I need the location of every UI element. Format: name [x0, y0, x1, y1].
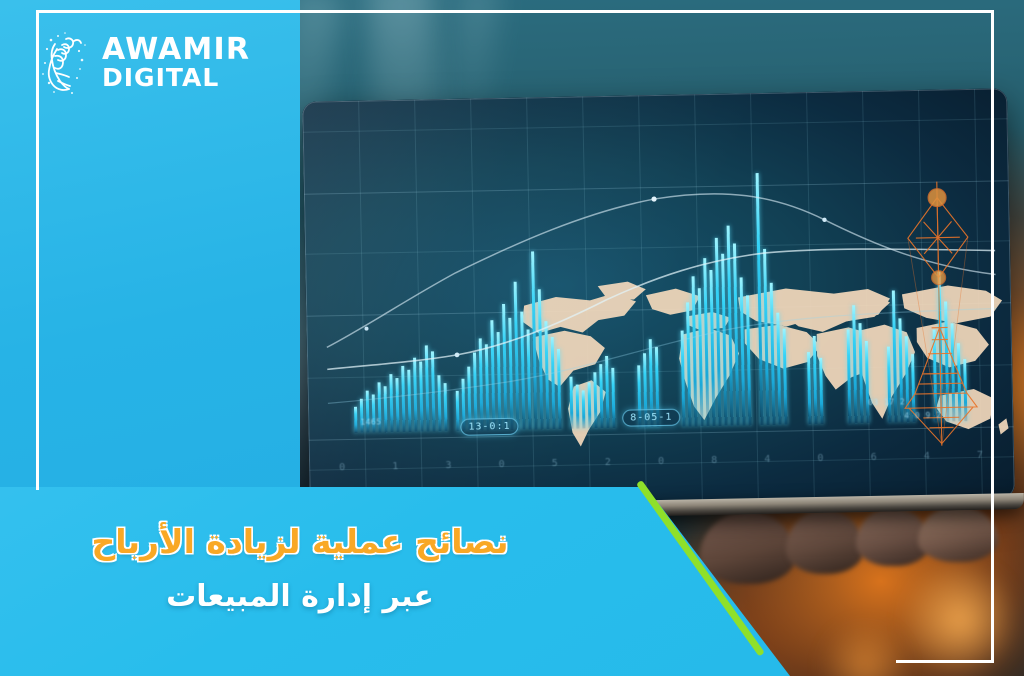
analytics-dashboard-screen[interactable]: 13-0:1 8-05-1 1465 03 17 2 4 0 9 2 0 1 3… [302, 88, 1015, 511]
curve-node [651, 196, 656, 201]
headline-block: نصائح عملية لزيادة الأرباح عبر إدارة الم… [40, 520, 560, 618]
axis-tick: 7 [977, 450, 984, 461]
axis-tick: 0 [817, 453, 824, 464]
axis-tick: 4 [764, 454, 771, 465]
bokeh-light [900, 560, 1020, 676]
axis-tick: 0 [498, 459, 505, 470]
bokeh-light [820, 620, 910, 676]
banner-stage: 13-0:1 8-05-1 1465 03 17 2 4 0 9 2 0 1 3… [0, 0, 1024, 676]
frame-top-border [36, 10, 994, 13]
brand-name-secondary: DIGITAL [102, 66, 250, 90]
axis-tick: 6 [871, 452, 878, 463]
axis-tick: 4 [924, 451, 931, 462]
frame-bottom-right-border [896, 660, 994, 663]
axis-tick: 8 [711, 455, 718, 466]
axis-tick: 3 [445, 460, 452, 471]
hud-pill[interactable]: 13-0:1 [460, 418, 518, 436]
orange-wireframe-tower [889, 177, 990, 451]
hud-chip: 1465 [360, 418, 381, 427]
hud-pill[interactable]: 8-05-1 [622, 409, 680, 427]
brand-logo[interactable]: AWAMIR DIGITAL [36, 24, 266, 102]
tablet-device[interactable]: 13-0:1 8-05-1 1465 03 17 2 4 0 9 2 0 1 3… [302, 88, 1015, 511]
curve-node [364, 327, 368, 331]
brand-wordmark: AWAMIR DIGITAL [102, 36, 250, 90]
brand-name-primary: AWAMIR [102, 36, 250, 65]
hud-chip: 4 0 9 2 [904, 412, 941, 422]
axis-tick: 0 [658, 456, 665, 467]
axis-tick: 5 [552, 458, 559, 469]
frame-right-border [991, 10, 994, 663]
hand-dove-logo-icon [36, 31, 92, 95]
curve-node [455, 352, 460, 357]
axis-tick: 1 [392, 461, 399, 472]
axis-tick: 2 [605, 457, 612, 468]
hud-chip: 03 17 2 [868, 398, 905, 408]
headline-line-2: عبر إدارة المبيعات [40, 575, 560, 619]
axis-tick: 0 [339, 462, 346, 473]
headline-line-1: نصائح عملية لزيادة الأرباح [40, 520, 560, 565]
